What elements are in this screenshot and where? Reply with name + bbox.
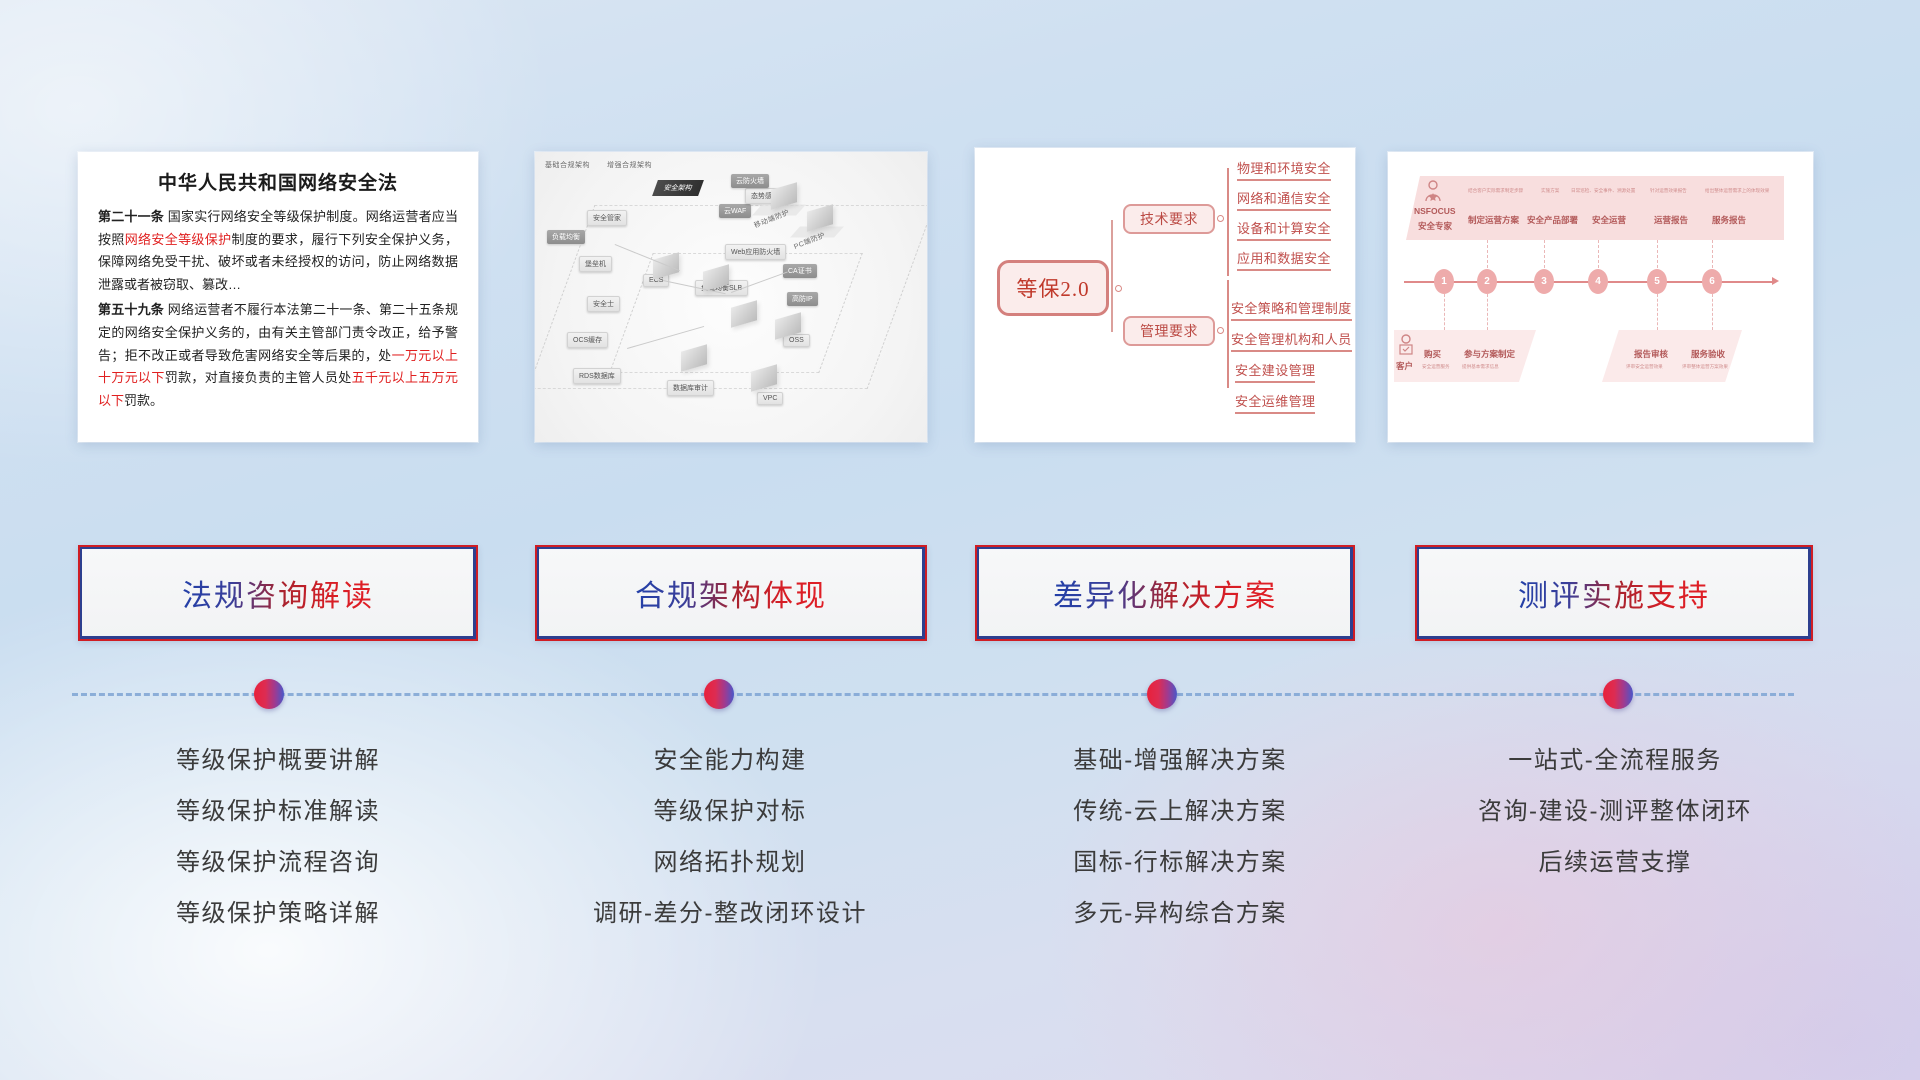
- customer-person-icon: [1398, 334, 1414, 356]
- nsfocus-customer-label: 客户: [1396, 360, 1413, 372]
- arch-node-12: CA证书: [783, 264, 817, 278]
- arch-header-right: 增强合规架构: [607, 160, 652, 170]
- slide-canvas: 中华人民共和国网络安全法 第二十一条 国家实行网络安全等级保护制度。网络运营者应…: [0, 0, 1920, 1080]
- title-box-compliance-architecture[interactable]: 合规架构体现: [535, 545, 927, 641]
- arch-node-15: VPC: [757, 392, 783, 405]
- timeline-dot-2[interactable]: [704, 679, 734, 709]
- list-item: 调研-差分-整改闭环设计: [500, 888, 960, 939]
- arch-node-7: RDS数据库: [573, 368, 621, 384]
- mindmap-leaf-m1: 安全策略和管理制度: [1231, 298, 1352, 321]
- list-item: 后续运营支撑: [1400, 837, 1830, 888]
- detail-column-2: 安全能力构建 等级保护对标 网络拓扑规划 调研-差分-整改闭环设计: [500, 735, 960, 939]
- nsfocus-dash-b1: [1444, 294, 1445, 330]
- nsfocus-brand: NSFOCUS: [1414, 206, 1456, 216]
- nsfocus-top-title-3: 安全产品部署: [1527, 214, 1578, 226]
- mindmap-leaf-m4: 安全运维管理: [1235, 391, 1315, 414]
- timeline: [0, 660, 1920, 720]
- arch-header-left: 基础合规架构: [545, 160, 590, 170]
- list-item: 国标-行标解决方案: [950, 837, 1410, 888]
- list-item: 咨询-建设-测评整体闭环: [1400, 786, 1830, 837]
- title-box-differentiated-solution[interactable]: 差异化解决方案: [975, 545, 1355, 641]
- arch-node-6: OCS缓存: [567, 332, 608, 348]
- mindmap-leaf-t1: 物理和环境安全: [1237, 158, 1331, 181]
- nsfocus-dash-t5: [1657, 240, 1658, 268]
- nsfocus-node-2: 2: [1477, 269, 1497, 294]
- title-box-regulation-consulting[interactable]: 法规咨询解读: [78, 545, 478, 641]
- mindmap-leaf-t2: 网络和通信安全: [1237, 188, 1331, 211]
- arch-node-8: 数据库审计: [667, 380, 714, 396]
- nsfocus-brand-sub: 安全专家: [1418, 220, 1452, 232]
- nsfocus-node-5: 5: [1647, 269, 1667, 294]
- nsfocus-axis-arrow: [1772, 277, 1779, 285]
- list-item: 网络拓扑规划: [500, 837, 960, 888]
- mindmap-hook-tech-down: [1227, 218, 1229, 276]
- list-item: 传统-云上解决方案: [950, 786, 1410, 837]
- list-item: 多元-异构综合方案: [950, 888, 1410, 939]
- mindmap-hook-mgmt-down: [1227, 330, 1229, 388]
- card-dengbao-mindmap[interactable]: 等保2.0 技术要求 管理要求 物理和环境安全 网络和通信安全 设备和计算安全 …: [975, 148, 1355, 442]
- timeline-dot-1[interactable]: [254, 679, 284, 709]
- nsfocus-top-sub-6: 给出整体运营需求上的体现效果: [1705, 188, 1769, 194]
- mindmap-connector-top: [1111, 220, 1125, 292]
- nsfocus-top-title-6: 服务报告: [1712, 214, 1746, 226]
- mindmap-leaf-t3: 设备和计算安全: [1237, 218, 1331, 241]
- nsfocus-top-title-2: 制定运营方案: [1468, 214, 1519, 226]
- timeline-dot-3[interactable]: [1147, 679, 1177, 709]
- mindmap-dot-tech: [1217, 215, 1224, 222]
- nsfocus-bottom-title-6: 服务验收: [1691, 348, 1725, 360]
- article-21-highlight: 网络安全等级保护: [125, 232, 232, 247]
- title-label-2: 合规架构体现: [635, 571, 827, 615]
- title-box-assessment-support[interactable]: 测评实施支持: [1415, 545, 1813, 641]
- mindmap-branch-technical: 技术要求: [1123, 204, 1215, 234]
- mindmap-root-node: 等保2.0: [997, 260, 1109, 316]
- nsfocus-dash-b6: [1712, 294, 1713, 330]
- list-item: 一站式-全流程服务: [1400, 735, 1830, 786]
- mindmap-branch-management: 管理要求: [1123, 316, 1215, 346]
- nsfocus-top-title-5: 运营报告: [1654, 214, 1688, 226]
- nsfocus-bottom-sub-2: 提供基本需求信息: [1462, 364, 1499, 370]
- title-label-3: 差异化解决方案: [1053, 571, 1277, 615]
- detail-list-row: 等级保护概要讲解 等级保护标准解读 等级保护流程咨询 等级保护策略详解 安全能力…: [0, 735, 1920, 965]
- nsfocus-bottom-sub-6: 评审整体运营方案效果: [1682, 364, 1728, 370]
- title-label-4: 测评实施支持: [1518, 571, 1710, 615]
- nsfocus-dash-t6: [1712, 240, 1713, 268]
- list-item: 安全能力构建: [500, 735, 960, 786]
- nsfocus-dash-t4: [1598, 240, 1599, 268]
- list-item: 等级保护策略详解: [78, 888, 478, 939]
- nsfocus-infographic: NSFOCUS 安全专家 结合客户实际需求制定步骤 制定运营方案 实施方案 安全…: [1388, 152, 1813, 442]
- timeline-dashed-line: [72, 693, 1794, 696]
- mindmap: 等保2.0 技术要求 管理要求 物理和环境安全 网络和通信安全 设备和计算安全 …: [975, 148, 1355, 442]
- nsfocus-bottom-sub-5: 评审安全运营效果: [1626, 364, 1663, 370]
- nsfocus-dash-t3: [1544, 240, 1545, 268]
- arch-node-18: 云防火墙: [731, 174, 769, 188]
- expert-person-icon: [1424, 180, 1442, 202]
- mindmap-dot-mgmt: [1217, 327, 1224, 334]
- nsfocus-bottom-title-5: 报告审核: [1634, 348, 1668, 360]
- nsfocus-bottom-title-1: 购买: [1424, 348, 1441, 360]
- mindmap-leaf-m2: 安全管理机构和人员: [1231, 329, 1352, 352]
- nsfocus-dash-b2: [1487, 294, 1488, 330]
- list-item: 等级保护流程咨询: [78, 837, 478, 888]
- detail-column-4: 一站式-全流程服务 咨询-建设-测评整体闭环 后续运营支撑: [1400, 735, 1830, 888]
- timeline-dot-4[interactable]: [1603, 679, 1633, 709]
- architecture-diagram: 基础合规架构 增强合规架构 安全架构 安全管家 负载均衡 云WAF 态势感知 堡…: [535, 152, 927, 442]
- nsfocus-top-sub-4: 日常巡检、安全事件、溯源处置: [1571, 188, 1635, 194]
- list-item: 等级保护标准解读: [78, 786, 478, 837]
- nsfocus-top-sub-3: 实施方案: [1541, 188, 1559, 194]
- mindmap-leaf-t4: 应用和数据安全: [1237, 248, 1331, 271]
- law-text-block: 中华人民共和国网络安全法 第二十一条 国家实行网络安全等级保护制度。网络运营者应…: [78, 152, 478, 425]
- nsfocus-top-title-4: 安全运营: [1592, 214, 1626, 226]
- law-article-59: 第五十九条 网络运营者不履行本法第二十一条、第二十五条规定的网络安全保护义务的，…: [98, 299, 458, 412]
- arch-node-1: 负载均衡: [547, 230, 585, 244]
- nsfocus-dash-b5: [1657, 294, 1658, 330]
- nsfocus-bottom-sub-1: 安全运营服务: [1422, 364, 1450, 370]
- nsfocus-node-6: 6: [1702, 269, 1722, 294]
- mindmap-hook-tech-up: [1227, 168, 1229, 224]
- list-item: 等级保护概要讲解: [78, 735, 478, 786]
- detail-column-3: 基础-增强解决方案 传统-云上解决方案 国标-行标解决方案 多元-异构综合方案: [950, 735, 1410, 939]
- arch-node-5: 安全士: [587, 296, 620, 312]
- nsfocus-top-sub-5: 针对运营效果报告: [1650, 188, 1687, 194]
- mindmap-leaf-m3: 安全建设管理: [1235, 360, 1315, 383]
- nsfocus-dash-t2: [1487, 240, 1488, 268]
- list-item: 基础-增强解决方案: [950, 735, 1410, 786]
- detail-column-1: 等级保护概要讲解 等级保护标准解读 等级保护流程咨询 等级保护策略详解: [78, 735, 478, 939]
- card-nsfocus-timeline[interactable]: NSFOCUS 安全专家 结合客户实际需求制定步骤 制定运营方案 实施方案 安全…: [1388, 152, 1813, 442]
- nsfocus-top-band: [1406, 176, 1784, 240]
- nsfocus-top-sub-2: 结合客户实际需求制定步骤: [1468, 188, 1523, 194]
- arch-node-4: 堡垒机: [579, 256, 612, 272]
- arch-node-0: 安全管家: [587, 210, 627, 226]
- mindmap-hook-mgmt-up: [1227, 280, 1229, 334]
- card-compliance-architecture[interactable]: 基础合规架构 增强合规架构 安全架构 安全管家 负载均衡 云WAF 态势感知 堡…: [535, 152, 927, 442]
- article-59-text-c: 罚款。: [124, 393, 163, 408]
- list-item: 等级保护对标: [500, 786, 960, 837]
- arch-node-13: 高防IP: [787, 292, 818, 306]
- arch-node-2: 云WAF: [719, 204, 751, 218]
- article-59-label: 第五十九条: [98, 302, 164, 317]
- nsfocus-node-1: 1: [1434, 269, 1454, 294]
- article-59-text-b: 罚款，对直接负责的主管人员处: [165, 370, 352, 385]
- law-article-21: 第二十一条 国家实行网络安全等级保护制度。网络运营者应当按照网络安全等级保护制度…: [98, 206, 458, 296]
- arch-node-11: Web应用防火墙: [725, 244, 786, 260]
- article-21-label: 第二十一条: [98, 209, 164, 224]
- mindmap-dot-root: [1115, 285, 1122, 292]
- nsfocus-bottom-title-2: 参与方案制定: [1464, 348, 1515, 360]
- nsfocus-node-4: 4: [1588, 269, 1608, 294]
- law-title: 中华人民共和国网络安全法: [98, 168, 458, 195]
- title-label-1: 法规咨询解读: [182, 571, 374, 615]
- card-cybersecurity-law[interactable]: 中华人民共和国网络安全法 第二十一条 国家实行网络安全等级保护制度。网络运营者应…: [78, 152, 478, 442]
- title-box-row: 法规咨询解读 合规架构体现 差异化解决方案 测评实施支持: [0, 545, 1920, 645]
- arch-banner: 安全架构: [652, 180, 704, 196]
- nsfocus-node-3: 3: [1534, 269, 1554, 294]
